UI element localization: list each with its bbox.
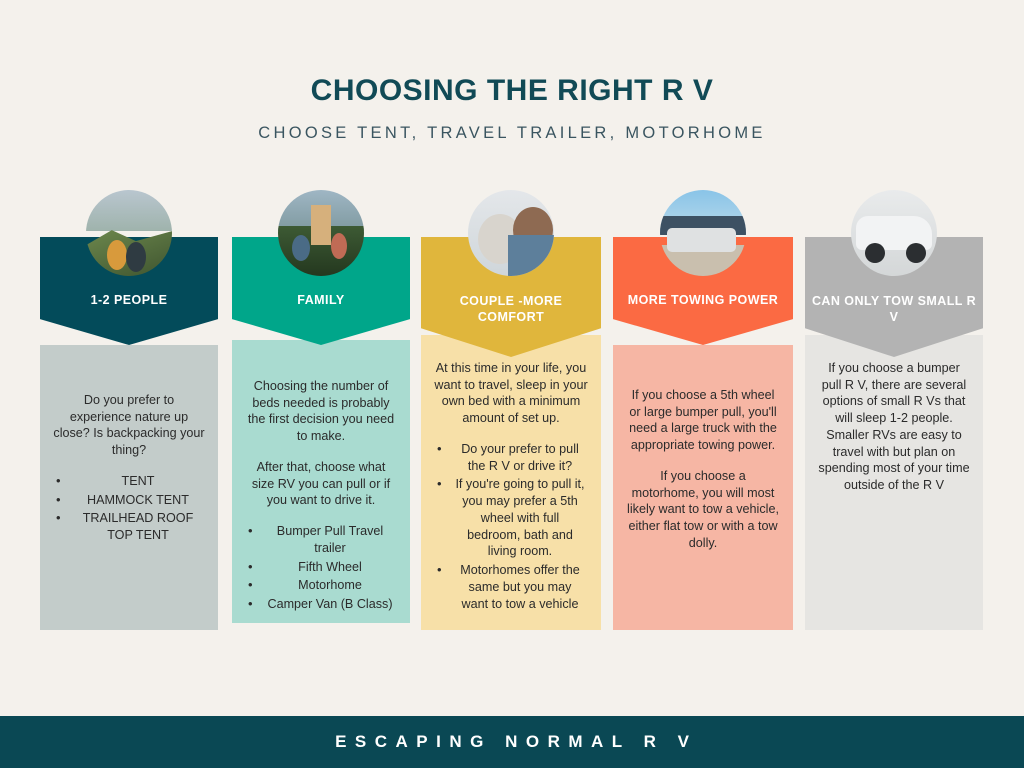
photo-content xyxy=(851,190,937,276)
column-intro-text: Choosing the number of beds needed is pr… xyxy=(244,378,398,509)
footer-bar: ESCAPING NORMAL R V xyxy=(0,716,1024,768)
photo-content xyxy=(86,190,172,276)
list-item: TRAILHEAD ROOF TOP TENT xyxy=(52,510,206,543)
page-subtitle: CHOOSE TENT, TRAVEL TRAILER, MOTORHOME xyxy=(0,124,1024,143)
senior-couple-photo xyxy=(468,190,554,276)
photo-layer xyxy=(865,243,885,263)
photo-content xyxy=(660,190,746,276)
column-header-label: CAN ONLY TOW SMALL R V xyxy=(805,293,983,326)
hikers-mountain-photo xyxy=(86,190,172,276)
pickup-truck-photo xyxy=(660,190,746,276)
list-item: Do your prefer to pull the R V or drive … xyxy=(433,441,589,474)
list-item: Motorhome xyxy=(244,577,398,594)
column-header-label: FAMILY xyxy=(232,292,410,308)
column-bullet-list: Do your prefer to pull the R V or drive … xyxy=(433,441,589,612)
page-header: CHOOSING THE RIGHT R V CHOOSE TENT, TRAV… xyxy=(0,0,1024,143)
photo-layer xyxy=(311,205,332,245)
intro-paragraph: If you choose a motorhome, you will most… xyxy=(625,468,781,552)
list-item: Bumper Pull Travel trailer xyxy=(244,523,398,556)
comparison-columns: Do you prefer to experience nature up cl… xyxy=(0,190,1024,640)
column-header-label: COUPLE -MORE COMFORT xyxy=(421,293,601,326)
column-bullet-list: Bumper Pull Travel trailerFifth WheelMot… xyxy=(244,523,398,613)
list-item: Camper Van (B Class) xyxy=(244,596,398,613)
photo-layer xyxy=(86,190,172,231)
list-item: If you're going to pull it, you may pref… xyxy=(433,476,589,560)
intro-paragraph: At this time in your life, you want to t… xyxy=(433,360,589,427)
list-item: Motorhomes offer the same but you may wa… xyxy=(433,562,589,612)
photo-content xyxy=(468,190,554,276)
intro-paragraph: Do you prefer to experience nature up cl… xyxy=(52,392,206,459)
page-title: CHOOSING THE RIGHT R V xyxy=(0,74,1024,107)
intro-paragraph: If you choose a bumper pull R V, there a… xyxy=(817,360,971,494)
column-body-col-can-only-tow-small-rv: If you choose a bumper pull R V, there a… xyxy=(805,335,983,630)
column-header-label: 1-2 PEOPLE xyxy=(40,292,218,308)
column-body-col-family: Choosing the number of beds needed is pr… xyxy=(232,340,410,623)
footer-brand-label: ESCAPING NORMAL R V xyxy=(327,732,698,752)
intro-paragraph: If you choose a 5th wheel or large bumpe… xyxy=(625,387,781,454)
photo-layer xyxy=(508,235,554,276)
column-intro-text: If you choose a 5th wheel or large bumpe… xyxy=(625,387,781,552)
photo-layer xyxy=(126,242,146,272)
column-bullet-list: TENTHAMMOCK TENTTRAILHEAD ROOF TOP TENT xyxy=(52,473,206,544)
column-intro-text: If you choose a bumper pull R V, there a… xyxy=(817,360,971,494)
list-item: TENT xyxy=(52,473,206,490)
family-campfire-photo xyxy=(278,190,364,276)
column-body-col-couple-more-comfort: At this time in your life, you want to t… xyxy=(421,335,601,630)
photo-layer xyxy=(107,240,127,270)
list-item: Fifth Wheel xyxy=(244,559,398,576)
intro-paragraph: Choosing the number of beds needed is pr… xyxy=(244,378,398,445)
column-body-col-more-towing-power: If you choose a 5th wheel or large bumpe… xyxy=(613,345,793,630)
photo-layer xyxy=(292,235,310,261)
photo-layer xyxy=(667,228,736,252)
intro-paragraph: After that, choose what size RV you can … xyxy=(244,459,398,509)
column-intro-text: Do you prefer to experience nature up cl… xyxy=(52,392,206,459)
white-car-photo xyxy=(851,190,937,276)
list-item: HAMMOCK TENT xyxy=(52,492,206,509)
photo-content xyxy=(278,190,364,276)
column-intro-text: At this time in your life, you want to t… xyxy=(433,360,589,427)
column-body-col-1-2-people: Do you prefer to experience nature up cl… xyxy=(40,345,218,630)
column-header-label: MORE TOWING POWER xyxy=(613,292,793,308)
